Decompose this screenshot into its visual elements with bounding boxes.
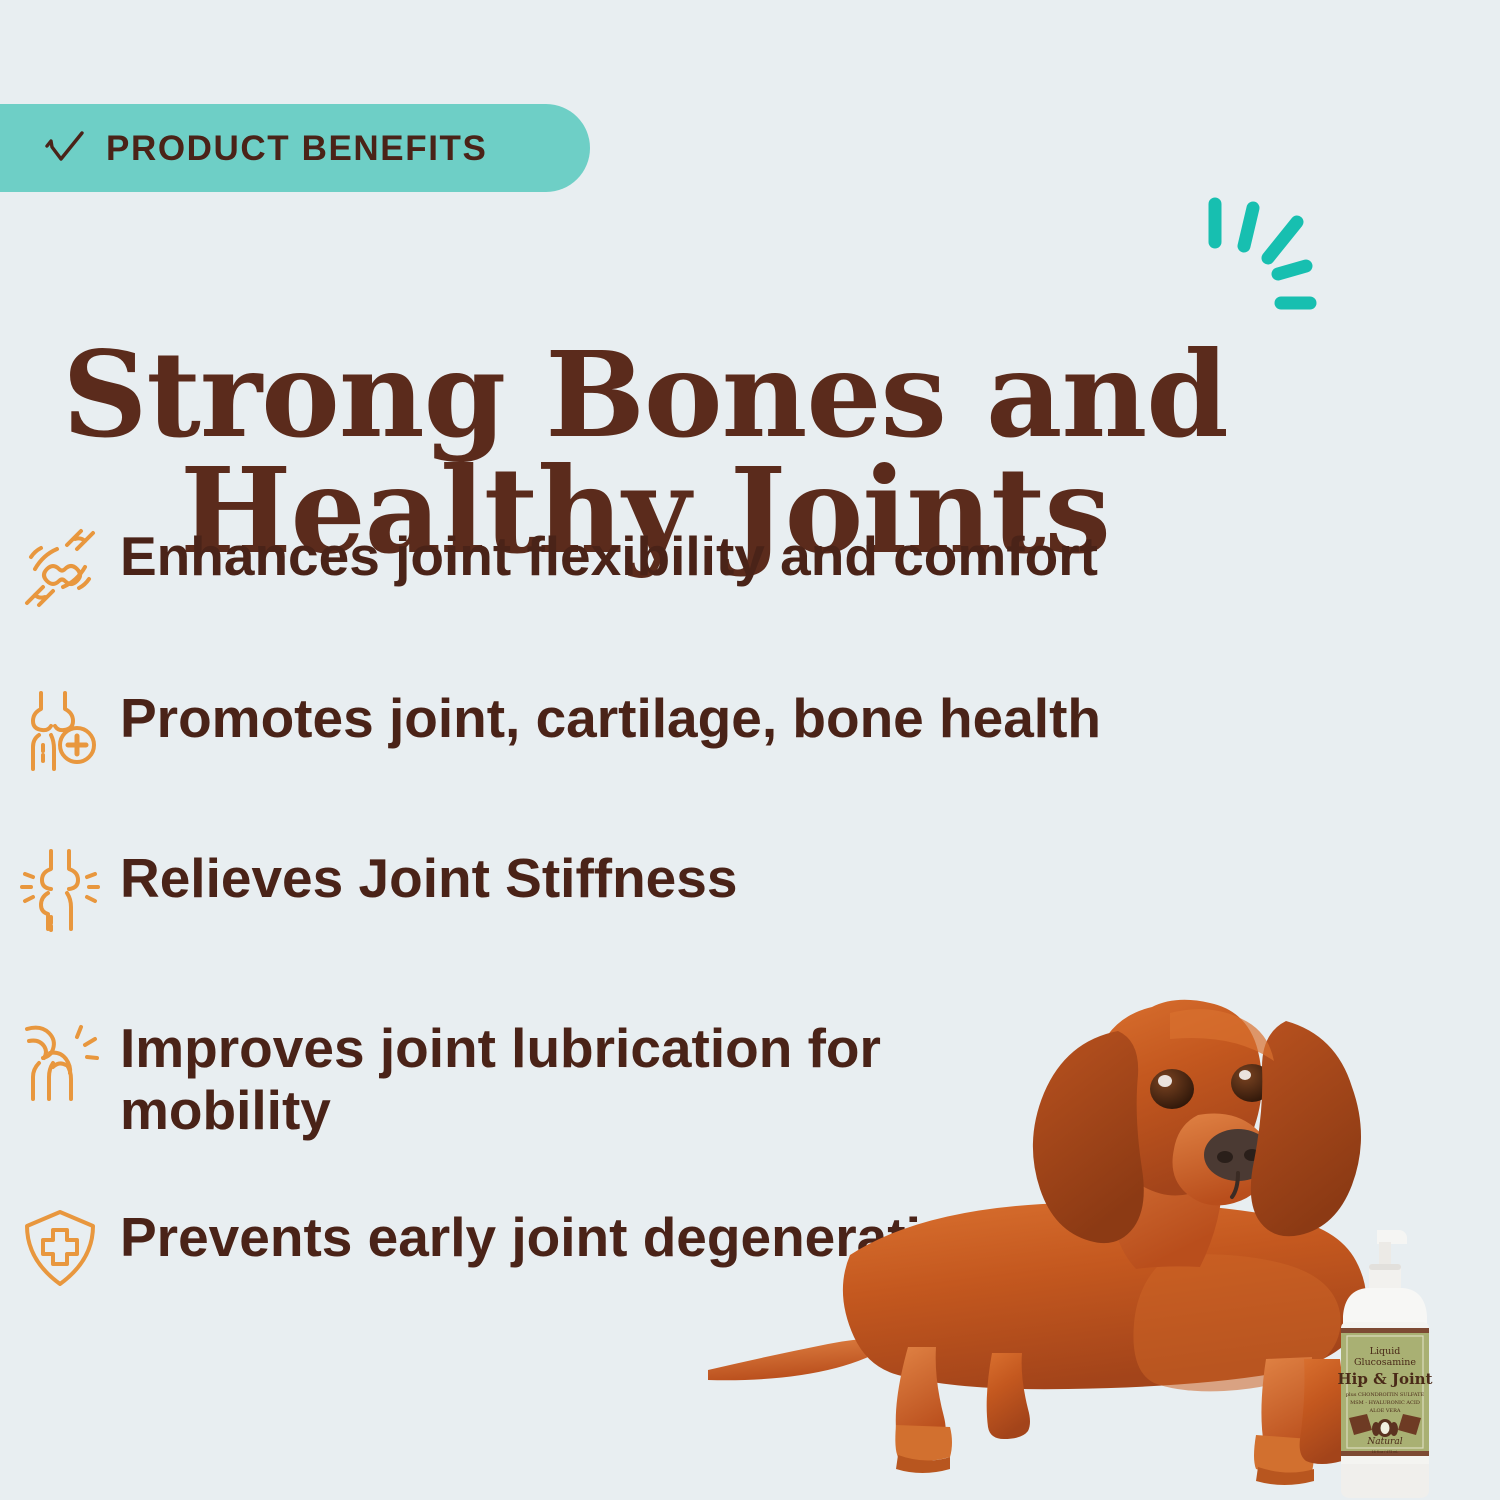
bottle-brand: Natural (1366, 1437, 1402, 1447)
benefit-text: Promotes joint, cartilage, bone health (120, 682, 1101, 750)
joint-relief-rays-icon (0, 842, 120, 938)
bottle-fineprint: 16 fl oz / 473 mL (1372, 1450, 1399, 1454)
check-icon (42, 126, 86, 170)
flexible-joint-motion-icon (0, 520, 120, 616)
bottle-sub3: ALOE VERA (1369, 1408, 1401, 1414)
benefit-text: Enhances joint flexibility and comfort (120, 520, 1098, 588)
bottle-sub1: plus CHONDROITIN SULFATE (1346, 1392, 1425, 1398)
bottle-sub2: MSM - HYALURONIC ACID (1350, 1400, 1420, 1406)
product-benefits-badge: PRODUCT BENEFITS (0, 104, 590, 192)
bottle-line1: Liquid (1370, 1346, 1401, 1357)
benefit-item: Promotes joint, cartilage, bone health (0, 682, 1320, 794)
shield-cross-icon (0, 1201, 120, 1297)
product-bottle: Liquid Glucosamine Hip & Joint plus CHON… (1325, 1228, 1445, 1500)
pump-dispenser (1369, 1230, 1407, 1290)
joint-lubrication-icon (0, 1012, 120, 1108)
bottle-line2: Glucosamine (1354, 1357, 1416, 1368)
bottle-title: Hip & Joint (1338, 1370, 1433, 1388)
product-benefits-label: PRODUCT BENEFITS (106, 131, 487, 166)
infographic-canvas: PRODUCT BENEFITS Strong Bones and Health… (0, 0, 1500, 1500)
joint-bone-cross-icon (0, 682, 120, 778)
benefit-item: Relieves Joint Stiffness (0, 842, 1320, 954)
benefit-item: Enhances joint flexibility and comfort (0, 520, 1320, 632)
benefit-text: Relieves Joint Stiffness (120, 842, 737, 910)
